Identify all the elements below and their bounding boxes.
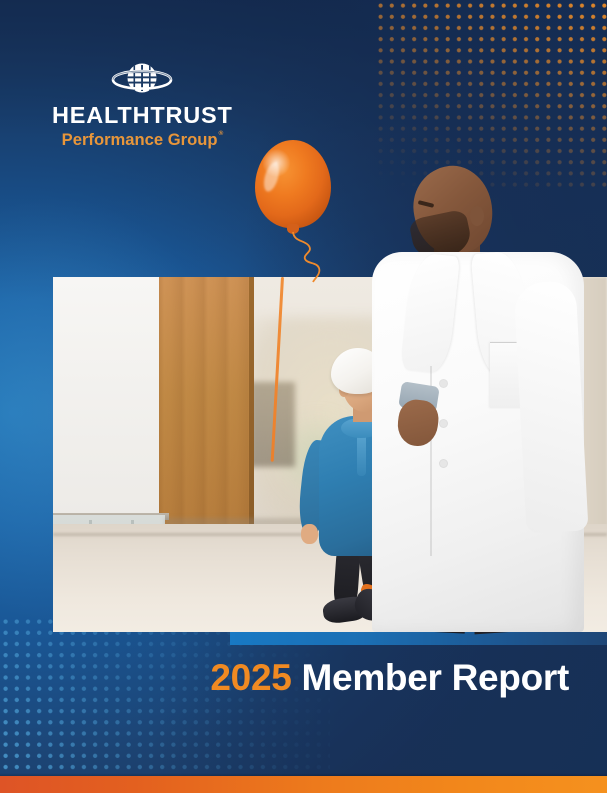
doctor-figure (378, 166, 578, 632)
report-cover-page: HEALTHTRUST Performance Group® (0, 0, 607, 793)
balloon-string-curl (275, 232, 339, 282)
wood-wall-edge (249, 277, 254, 539)
globe-orbit-icon (111, 60, 173, 96)
doctor-ear (470, 206, 484, 226)
child-dress-placket (357, 434, 366, 476)
orange-dot-grid-icon (375, 0, 607, 190)
doctor-coat-button (440, 460, 447, 467)
wood-wall-panel (159, 277, 251, 539)
brand-logo: HEALTHTRUST Performance Group® (52, 60, 232, 150)
white-wall (53, 277, 165, 535)
doctor-coat-button (440, 420, 447, 427)
blue-accent-bar (230, 632, 607, 645)
page-title: 2025 Member Report (0, 659, 569, 696)
orange-footer-bar (0, 776, 607, 793)
title-year: 2025 (210, 657, 291, 698)
title-text: Member Report (302, 657, 569, 698)
brand-name: HEALTHTRUST (52, 104, 232, 128)
brand-tagline: Performance Group® (62, 132, 223, 149)
doctor-coat-button (440, 380, 447, 387)
balloon (255, 140, 355, 300)
doctor-right-arm (514, 281, 589, 534)
brand-tagline-text: Performance Group (62, 130, 218, 149)
registered-mark: ® (219, 130, 224, 137)
child-left-hand (301, 524, 318, 544)
